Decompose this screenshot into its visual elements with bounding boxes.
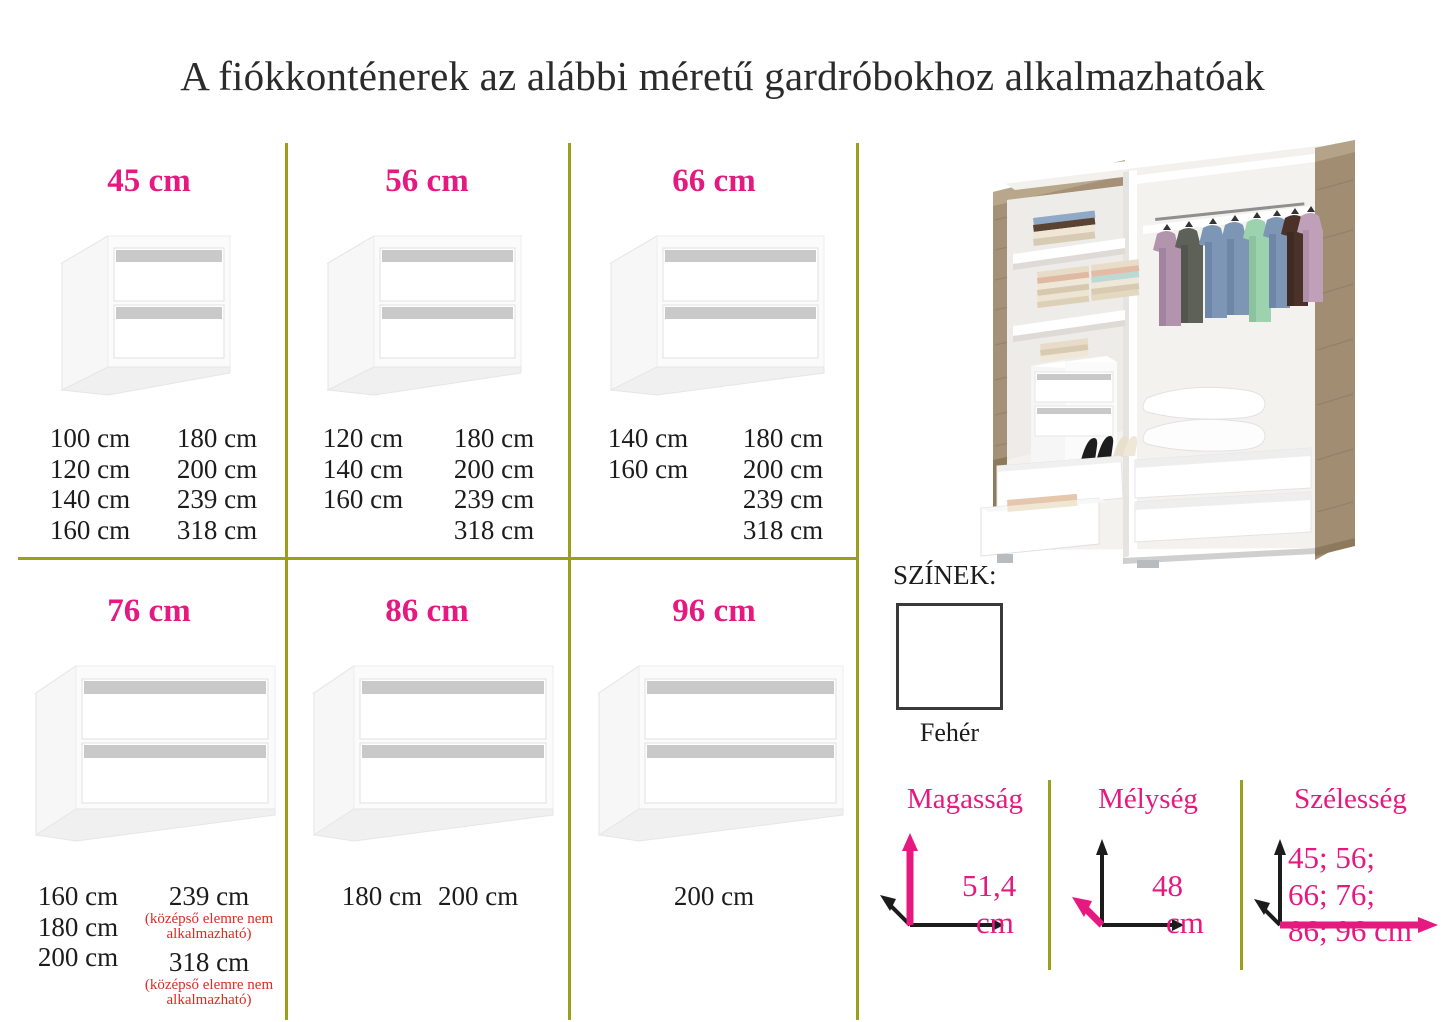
legend-title-height: Magasság [880, 783, 1050, 816]
drawer-chest-illustration [605, 225, 825, 395]
dimension-value: 180 cm [177, 423, 257, 454]
dimension-note: (középső elemre nem alkalmazható) [138, 978, 280, 1010]
size-heading: 45 cm [18, 163, 280, 200]
size-heading: 76 cm [18, 593, 280, 630]
dimension-column-right: 239 cm (középső elemre nem alkalmazható)… [138, 881, 280, 1009]
grid-divider-vertical-6 [856, 560, 859, 1020]
dimension-value: 200 cm [743, 454, 823, 485]
dimension-value: 140 cm [323, 454, 403, 485]
legend-value-height: 51,4 cm [962, 868, 1052, 941]
size-cell-76: 76 cm 160 cm 180 cm 200 cm 239 cm [18, 593, 280, 1013]
legend-value-number: 48 [1152, 868, 1183, 903]
dimension-value: 100 cm [50, 423, 130, 454]
legend-value-depth: 48 cm [1152, 868, 1242, 941]
dimension-column-left: 160 cm 180 cm 200 cm [18, 881, 138, 1009]
legend-title-width: Szélesség [1258, 783, 1443, 816]
page-title: A fiókkonténerek az alábbi méretű gardró… [0, 52, 1445, 100]
size-heading: 56 cm [292, 163, 562, 200]
dimension-column-left: 180 cm [342, 881, 422, 912]
legend-value-line: 86; 96 cm [1288, 913, 1443, 950]
dimension-list: 100 cm 120 cm 140 cm 160 cm 180 cm 200 c… [26, 423, 280, 545]
grid-divider-horizontal [18, 557, 859, 560]
dimension-value: 120 cm [50, 454, 130, 485]
dimension-list: 160 cm 180 cm 200 cm 239 cm (középső ele… [18, 881, 280, 1009]
grid-divider-vertical-3 [856, 143, 859, 557]
dimension-column-right: 180 cm 200 cm 239 cm 318 cm [716, 423, 850, 545]
dimension-value: 160 cm [38, 881, 118, 912]
legend-value-number: 51,4 [962, 868, 1016, 903]
size-cell-66: 66 cm 140 cm 160 cm 180 cm 200 cm [575, 163, 853, 543]
color-swatch-white[interactable] [896, 603, 1003, 710]
dimension-value: 200 cm [438, 881, 518, 912]
size-heading: 66 cm [575, 163, 853, 200]
dimension-column-right: 180 cm 200 cm 239 cm 318 cm [154, 423, 280, 545]
size-heading: 96 cm [575, 593, 853, 630]
legend-value-width: 45; 56; 66; 76; 86; 96 cm [1288, 840, 1443, 950]
dimension-value: 200 cm [177, 454, 257, 485]
dimension-column-right: 200 cm [438, 881, 518, 912]
dimension-value: 239 cm [177, 484, 257, 515]
dimension-list: 120 cm 140 cm 160 cm 180 cm 200 cm 239 c… [297, 423, 559, 545]
dimension-value: 160 cm [608, 454, 688, 485]
drawer-chest-illustration [30, 651, 280, 841]
color-swatch-label: Fehér [896, 718, 1003, 748]
legend-value-unit: cm [1166, 905, 1204, 942]
dimension-list: 200 cm [575, 881, 853, 912]
legend-value-line: 66; 76; [1288, 877, 1443, 914]
size-cell-45: 45 cm 100 cm [18, 163, 280, 543]
dimension-value: 239 cm [743, 484, 823, 515]
dimension-note: (középső elemre nem alkalmazható) [138, 912, 280, 944]
dimension-list: 140 cm 160 cm 180 cm 200 cm 239 cm 318 c… [580, 423, 850, 545]
size-heading: 86 cm [292, 593, 562, 630]
dimension-value: 160 cm [323, 484, 403, 515]
grid-divider-vertical-5 [568, 560, 571, 1020]
dimension-list: 180 cm 200 cm [310, 881, 550, 912]
infographic-page: A fiókkonténerek az alábbi méretű gardró… [0, 0, 1445, 1022]
grid-divider-vertical-1 [285, 143, 288, 557]
size-cell-96: 96 cm 200 cm [575, 593, 853, 1013]
dimension-value: 180 cm [38, 912, 118, 943]
drawer-chest-illustration [593, 651, 848, 841]
dimension-value: 318 cm [177, 515, 257, 546]
wardrobe-interior-photo [885, 130, 1435, 570]
dimension-value: 180 cm [743, 423, 823, 454]
dimension-column-right: 180 cm 200 cm 239 cm 318 cm [429, 423, 559, 545]
drawer-chest-illustration [322, 225, 522, 395]
dimension-value: 120 cm [323, 423, 403, 454]
dimension-value: 140 cm [608, 423, 688, 454]
legend-value-unit: cm [976, 905, 1014, 942]
dimension-value: 180 cm [454, 423, 534, 454]
dimension-column-left: 100 cm 120 cm 140 cm 160 cm [26, 423, 154, 545]
dimension-value: 200 cm [674, 881, 754, 912]
drawer-chest-illustration [308, 651, 558, 841]
legend-value-line: 45; 56; [1288, 840, 1443, 877]
legend-title-depth: Mélység [1068, 783, 1228, 816]
dimension-value: 160 cm [50, 515, 130, 546]
dimension-column-left: 140 cm 160 cm [580, 423, 716, 545]
grid-divider-vertical-4 [285, 560, 288, 1020]
dimension-value: 239 cm [454, 484, 534, 515]
grid-divider-vertical-2 [568, 143, 571, 557]
colors-section-label: SZÍNEK: [893, 560, 997, 591]
dimension-value: 318 cm [169, 947, 249, 978]
size-cell-86: 86 cm 180 cm 200 cm [292, 593, 562, 1013]
dimension-value: 180 cm [342, 881, 422, 912]
dimension-value: 318 cm [454, 515, 534, 546]
dimension-value: 200 cm [38, 942, 118, 973]
drawer-chest-illustration [56, 225, 231, 395]
dimension-column-left: 120 cm 140 cm 160 cm [297, 423, 429, 545]
dimension-value: 140 cm [50, 484, 130, 515]
dimension-value: 200 cm [454, 454, 534, 485]
dimension-value: 318 cm [743, 515, 823, 546]
dimension-column-right: 200 cm [674, 881, 754, 912]
dimension-value: 239 cm [169, 881, 249, 912]
size-cell-56: 56 cm 120 cm 140 cm 160 cm 180 cm [292, 163, 562, 543]
